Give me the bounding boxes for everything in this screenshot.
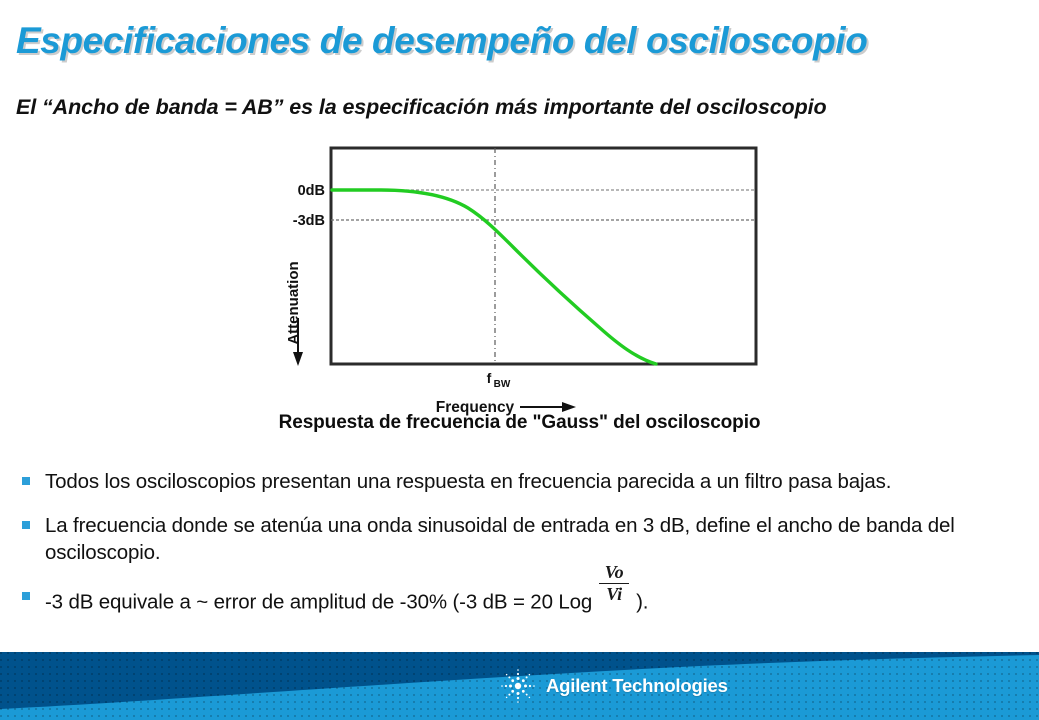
bullet-square-icon (22, 477, 30, 485)
list-item-label: La frecuencia donde se atenúa una onda s… (45, 512, 1017, 566)
agilent-logo-text: Agilent Technologies (546, 675, 728, 697)
list-item-label: Todos los osciloscopios presentan una re… (45, 468, 1017, 495)
x-axis-arrow-icon (520, 402, 576, 412)
agilent-logo: Agilent Technologies (496, 652, 728, 720)
y-axis-label: Attenuation (285, 261, 302, 344)
list-item-text-before: -3 dB equivale a ~ error de amplitud de … (45, 591, 592, 614)
fraction-numerator: Vo (602, 563, 627, 581)
list-item-label: -3 dB equivale a ~ error de amplitud de … (45, 583, 1017, 623)
fraction-denominator: Vi (603, 585, 625, 603)
fbw-tick-label: f BW (487, 370, 511, 390)
bullet-square-icon (22, 592, 30, 600)
fbw-label-sub: BW (494, 379, 511, 390)
chart-canvas: 0dB -3dB Attenuation f BW Frequency (270, 140, 780, 430)
footer-band: Agilent Technologies (0, 652, 1039, 720)
frequency-response-chart: 0dB -3dB Attenuation f BW Frequency (270, 140, 780, 430)
bullet-square-icon (22, 521, 30, 529)
fbw-label-main: f (487, 370, 492, 386)
vo-vi-fraction: VoVi (599, 563, 629, 603)
page-title: Especificaciones de desempeño del oscilo… (16, 22, 1026, 61)
bullet-list: Todos los osciloscopios presentan una re… (22, 468, 1017, 640)
plot-frame (331, 148, 756, 364)
list-item: Todos los osciloscopios presentan una re… (22, 468, 1017, 495)
list-item: La frecuencia donde se atenúa una onda s… (22, 512, 1017, 566)
list-item-text-after: ). (636, 591, 648, 614)
ytick-label-0db: 0dB (298, 183, 325, 199)
list-item: -3 dB equivale a ~ error de amplitud de … (22, 583, 1017, 623)
agilent-starburst-icon (496, 664, 540, 708)
slide-subtitle: El “Ancho de banda = AB” es la especific… (16, 95, 1031, 120)
figure-caption: Respuesta de frecuencia de "Gauss" del o… (0, 412, 1039, 434)
ytick-label-minus3db: -3dB (293, 213, 325, 229)
